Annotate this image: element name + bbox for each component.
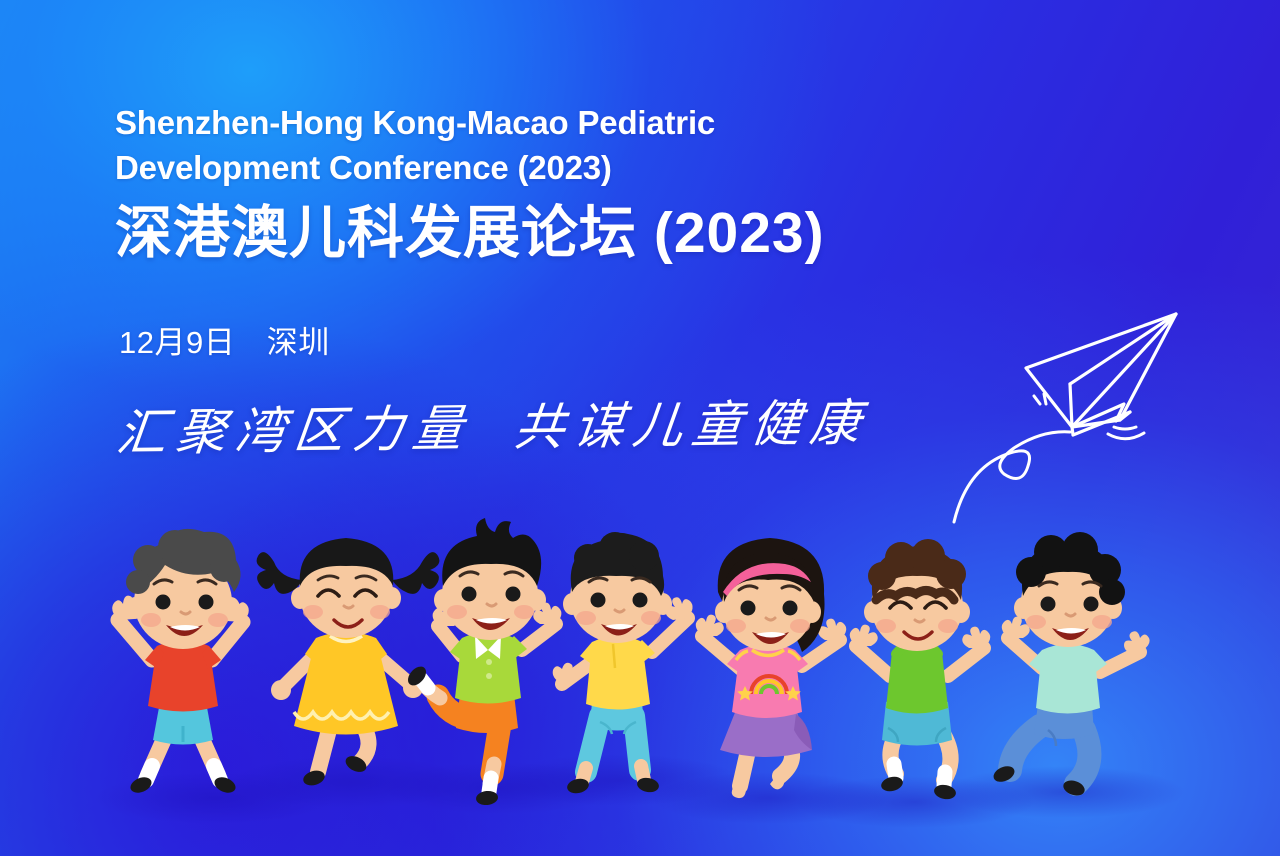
title-english: Shenzhen-Hong Kong-Macao Pediatric Devel… [115, 100, 825, 190]
child-5-girl-rainbow-tee [696, 538, 847, 798]
title-chinese: 深港澳儿科发展论坛 (2023) [115, 196, 825, 270]
child-6-boy-green-tank [850, 539, 991, 801]
conference-poster: Shenzhen-Hong Kong-Macao Pediatric Devel… [0, 0, 1280, 856]
children-illustration [0, 480, 1280, 856]
title-block: Shenzhen-Hong Kong-Macao Pediatric Devel… [115, 100, 825, 270]
date-location: 12月9日 深圳 [119, 317, 330, 362]
paper-plane-icon [930, 296, 1220, 536]
child-7-boy-mint-tee [991, 532, 1149, 798]
slogan-calligraphy: 汇聚湾区力量 共谋儿童健康 [113, 383, 873, 465]
child-2-girl-yellow-dress [257, 538, 440, 788]
child-1-boy-red-shirt [112, 529, 249, 796]
